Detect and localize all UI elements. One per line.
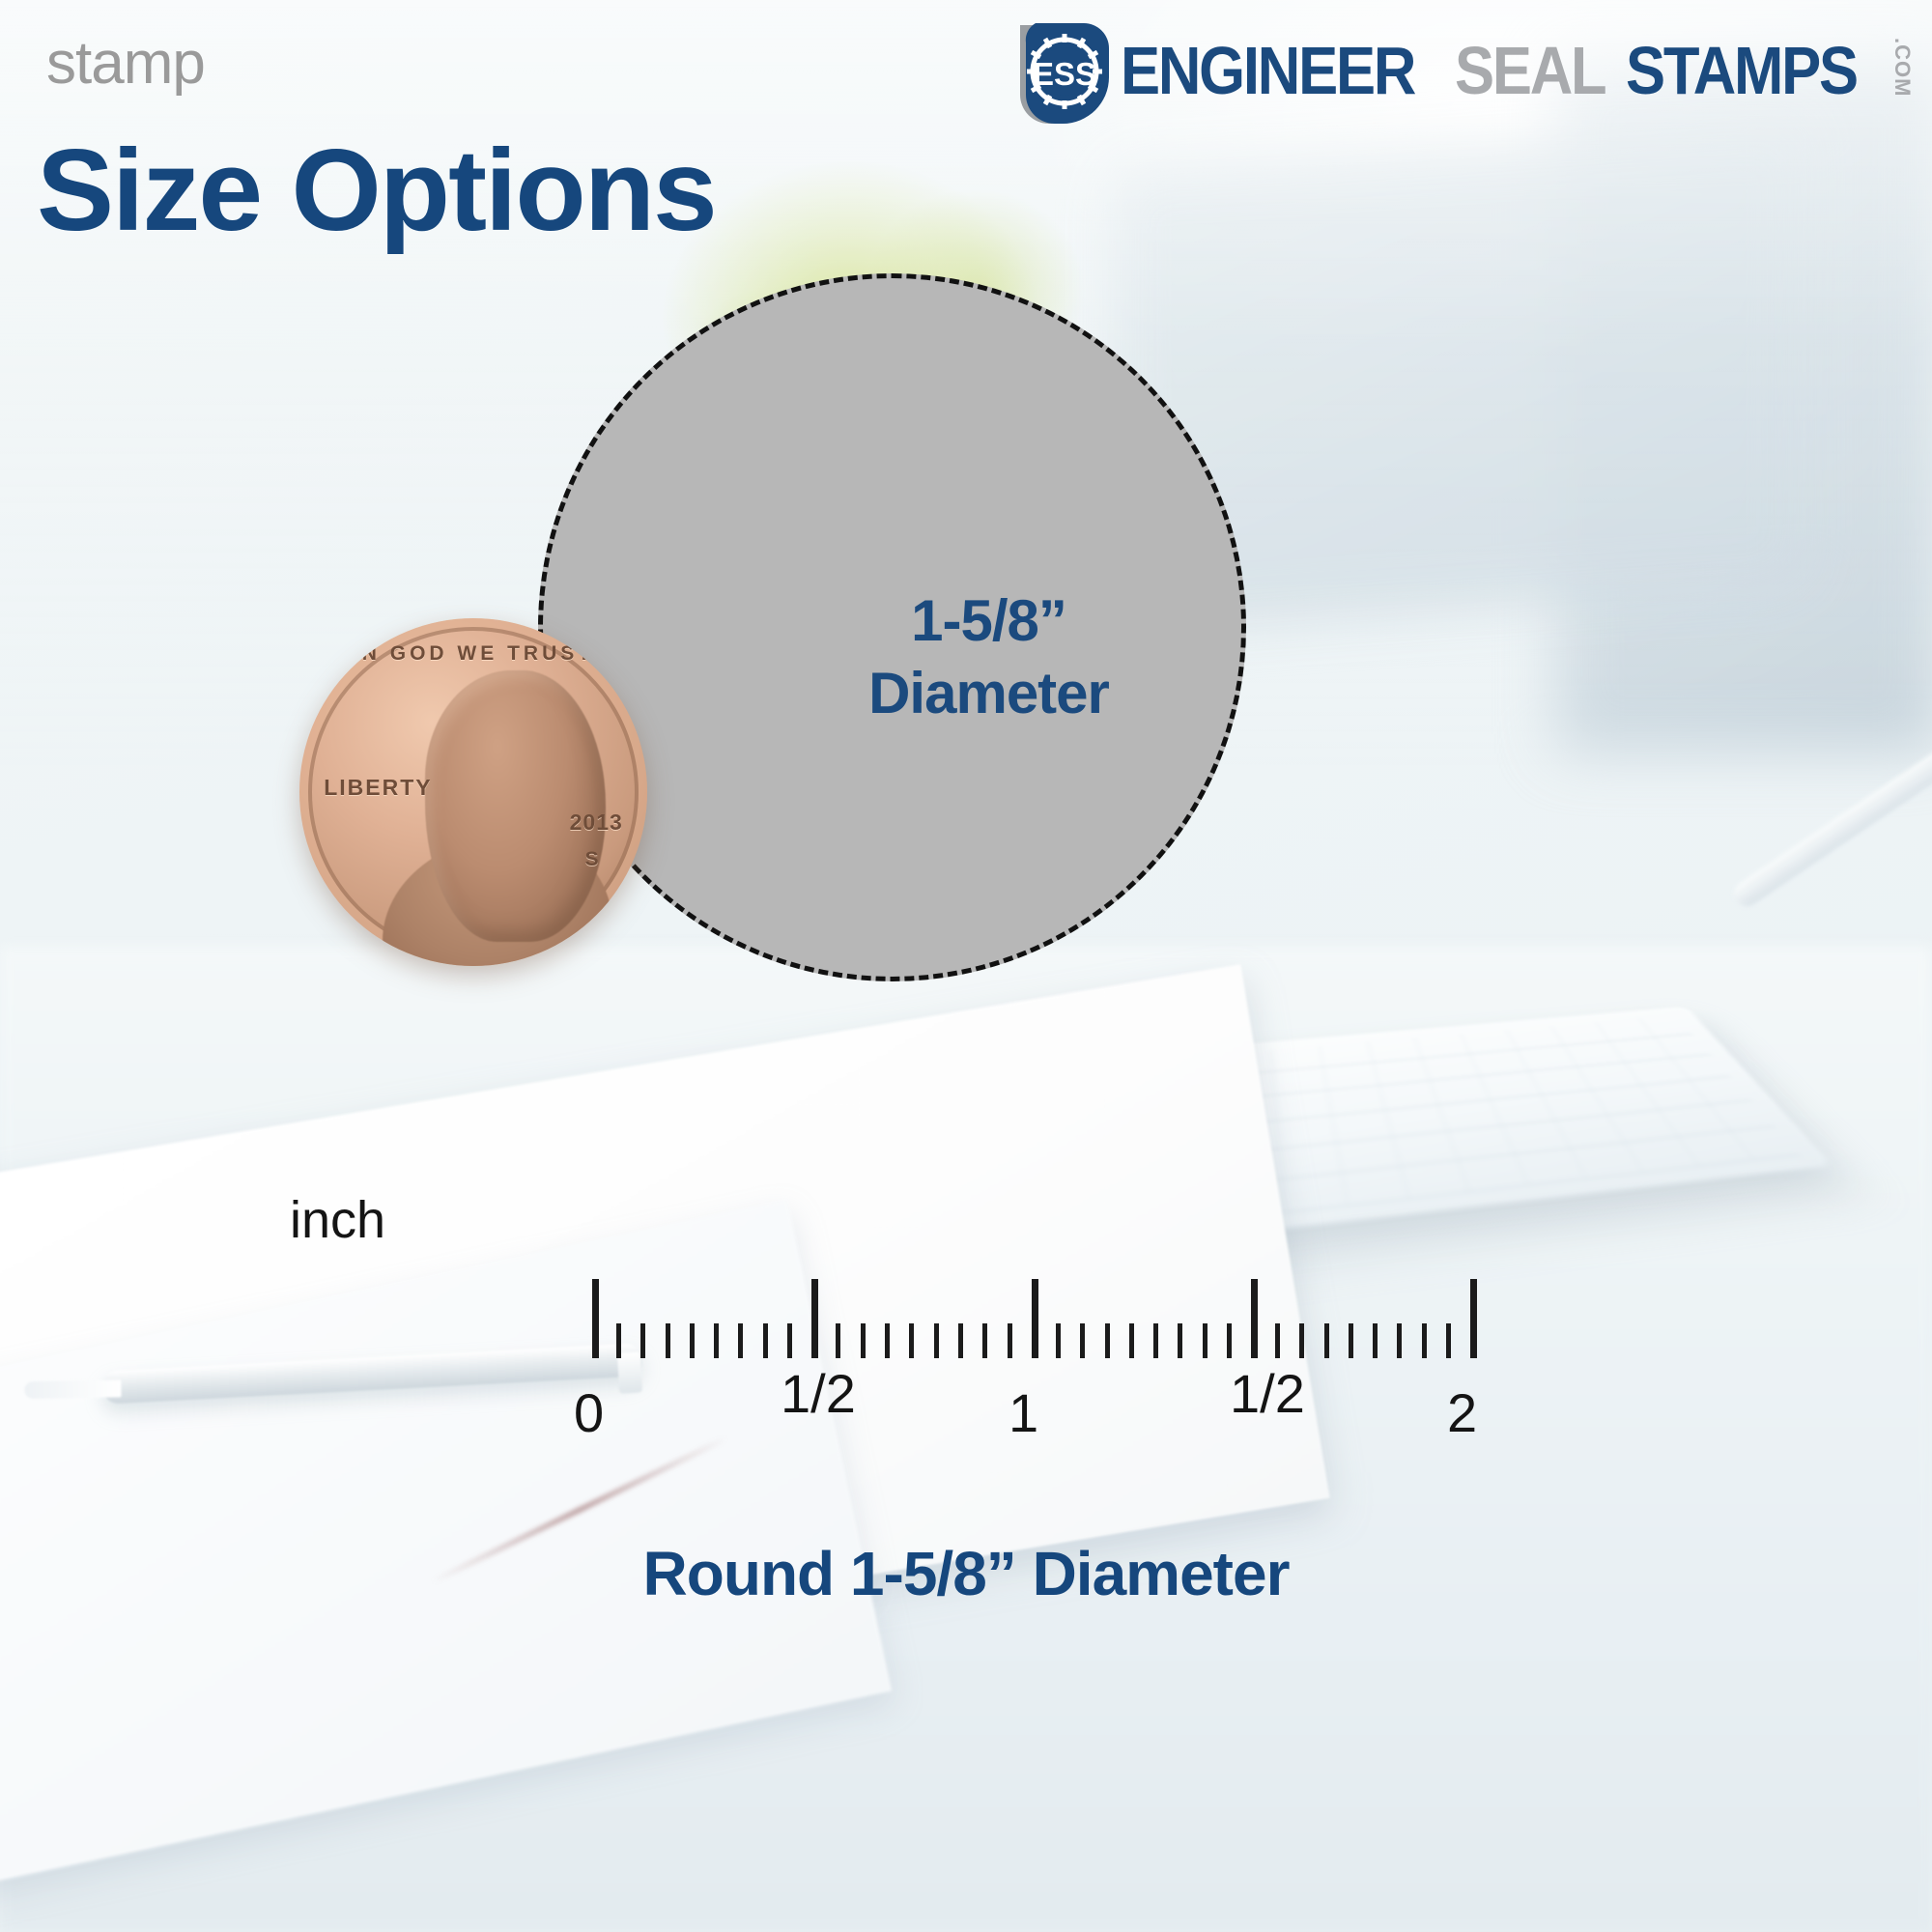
ruler-tick-minor [982, 1323, 987, 1358]
ruler-tick-minor [1056, 1323, 1061, 1358]
ruler-label: 1/2 [781, 1362, 856, 1425]
ruler-tick-minor [1373, 1323, 1378, 1358]
ruler-tick-minor [1105, 1323, 1110, 1358]
ruler-tick-minor [1153, 1323, 1158, 1358]
ruler-unit-label: inch [290, 1190, 385, 1250]
ruler [290, 1252, 1584, 1358]
ruler-tick-minor [1349, 1323, 1353, 1358]
stamp-size-label: 1-5/8” Diameter [868, 584, 1109, 729]
ruler-tick-minor [666, 1323, 670, 1358]
ruler-tick-minor [1203, 1323, 1207, 1358]
logo-word-engineer: ENGINEER [1121, 37, 1414, 104]
ruler-tick-minor [958, 1323, 963, 1358]
kicker-label: stamp [46, 29, 205, 98]
bottom-caption: Round 1-5/8” Diameter [0, 1538, 1932, 1609]
ruler-tick-minor [836, 1323, 840, 1358]
ruler-tick-minor [763, 1323, 768, 1358]
logo-word-seal: SEAL [1455, 37, 1605, 104]
ruler-label: 0 [574, 1381, 604, 1444]
coin-lincoln-bust [425, 670, 606, 942]
ruler-tick-minor [885, 1323, 890, 1358]
ruler-tick-minor [1446, 1323, 1451, 1358]
ruler-tick-major [1470, 1279, 1477, 1358]
coin-year-text: 2013 [570, 810, 623, 836]
ruler-tick-minor [640, 1323, 645, 1358]
penny-coin: IN GOD WE TRUST LIBERTY 2013 S [299, 618, 647, 966]
stamp-size-line1: 1-5/8” [868, 584, 1109, 657]
stamp-size-line2: Diameter [868, 657, 1109, 729]
ruler-tick-minor [690, 1323, 695, 1358]
ess-shield-icon: ESS [1003, 17, 1117, 124]
page-title: Size Options [37, 124, 716, 257]
ruler-label: 2 [1447, 1381, 1477, 1444]
coin-mint-mark: S [585, 848, 599, 871]
ruler-tick-major [1251, 1279, 1258, 1358]
ruler-tick-minor [787, 1323, 792, 1358]
ruler-tick-major [592, 1279, 599, 1358]
brand-logo[interactable]: ESS ENGINEER SEAL STAMPS .COM [1003, 17, 1915, 124]
ruler-tick-major [1032, 1279, 1038, 1358]
stamp-size-circle: 1-5/8” Diameter [538, 273, 1246, 981]
ruler-tick-minor [861, 1323, 866, 1358]
logo-dotcom: .COM [1889, 38, 1915, 97]
ruler-tick-minor [1129, 1323, 1134, 1358]
ruler-tick-minor [738, 1323, 743, 1358]
ruler-tick-minor [714, 1323, 719, 1358]
ruler-tick-minor [909, 1323, 914, 1358]
ruler-tick-minor [1397, 1323, 1402, 1358]
ruler-tick-minor [1299, 1323, 1304, 1358]
svg-text:ESS: ESS [1033, 56, 1096, 92]
ruler-tick-minor [616, 1323, 621, 1358]
ruler-tick-minor [1227, 1323, 1232, 1358]
logo-wordmark: ENGINEER SEAL STAMPS .COM [1121, 37, 1915, 104]
ruler-label: 1 [1009, 1381, 1038, 1444]
ruler-tick-minor [934, 1323, 939, 1358]
ruler-tick-minor [1422, 1323, 1427, 1358]
ruler-tick-minor [1275, 1323, 1280, 1358]
ruler-tick-minor [1324, 1323, 1329, 1358]
logo-word-stamps: STAMPS [1626, 37, 1857, 104]
ruler-tick-minor [1008, 1323, 1012, 1358]
ruler-tick-minor [1178, 1323, 1182, 1358]
coin-liberty-text: LIBERTY [324, 775, 432, 801]
ruler-label: 1/2 [1230, 1362, 1305, 1425]
coin-motto-text: IN GOD WE TRUST [353, 642, 594, 666]
ruler-tick-major [811, 1279, 818, 1358]
ruler-tick-minor [1080, 1323, 1085, 1358]
